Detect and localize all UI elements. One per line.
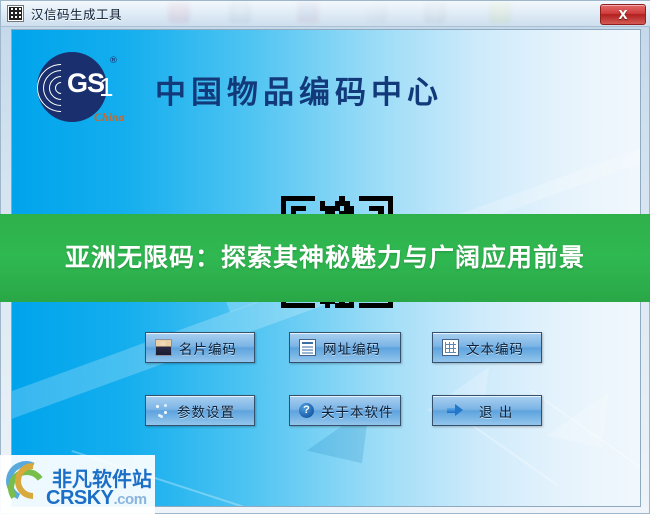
gs1-logo: GS 1 ® China (37, 52, 111, 126)
text-encode-button[interactable]: 文本编码 (432, 332, 542, 363)
about-label: 关于本软件 (321, 401, 394, 421)
brand-logo-row: GS 1 ® China 中国物品编码中心 (37, 52, 443, 126)
arrow-right-icon (447, 403, 462, 418)
param-setting-button[interactable]: 参数设置 (145, 395, 255, 426)
overlay-title-text: 亚洲无限码：探索其神秘魅力与广阔应用前景 (65, 241, 585, 275)
registered-mark-icon: ® (109, 56, 118, 66)
exit-button[interactable]: 退 出 (432, 395, 542, 426)
watermark-brand: CRSKY (46, 487, 114, 509)
dots-settings-icon (155, 403, 170, 418)
gs1-digit: 1 (99, 72, 113, 103)
text-encode-label: 文本编码 (466, 338, 524, 358)
screenshot-root: 汉信码生成工具 X (0, 0, 650, 514)
help-icon: ? (299, 403, 314, 418)
about-button[interactable]: ? 关于本软件 (289, 395, 401, 426)
site-watermark: 非凡软件站 CRSKY.com (0, 455, 155, 514)
overlay-title-banner: 亚洲无限码：探索其神秘魅力与广阔应用前景 (0, 214, 650, 302)
org-name: 中国物品编码中心 (155, 67, 443, 112)
url-encode-button[interactable]: 网址编码 (289, 332, 401, 363)
gs1-region-label: China (94, 110, 125, 125)
document-icon (299, 339, 316, 356)
decor-arrow (547, 392, 633, 470)
card-encode-button[interactable]: 名片编码 (145, 332, 255, 363)
close-button[interactable]: X (600, 4, 646, 25)
url-encode-label: 网址编码 (323, 338, 381, 358)
hanxin-code-icon (7, 5, 24, 22)
watermark-name-en: CRSKY.com (46, 487, 147, 510)
grid-icon (442, 339, 459, 356)
watermark-tld: .com (114, 491, 147, 508)
card-encode-label: 名片编码 (179, 338, 237, 358)
title-bar: 汉信码生成工具 X (1, 1, 650, 27)
person-icon (155, 339, 172, 356)
exit-label: 退 出 (479, 401, 513, 421)
decor-ray (531, 390, 640, 478)
param-setting-label: 参数设置 (177, 401, 235, 421)
window-title: 汉信码生成工具 (31, 4, 122, 23)
crsky-logo-icon (6, 461, 48, 505)
